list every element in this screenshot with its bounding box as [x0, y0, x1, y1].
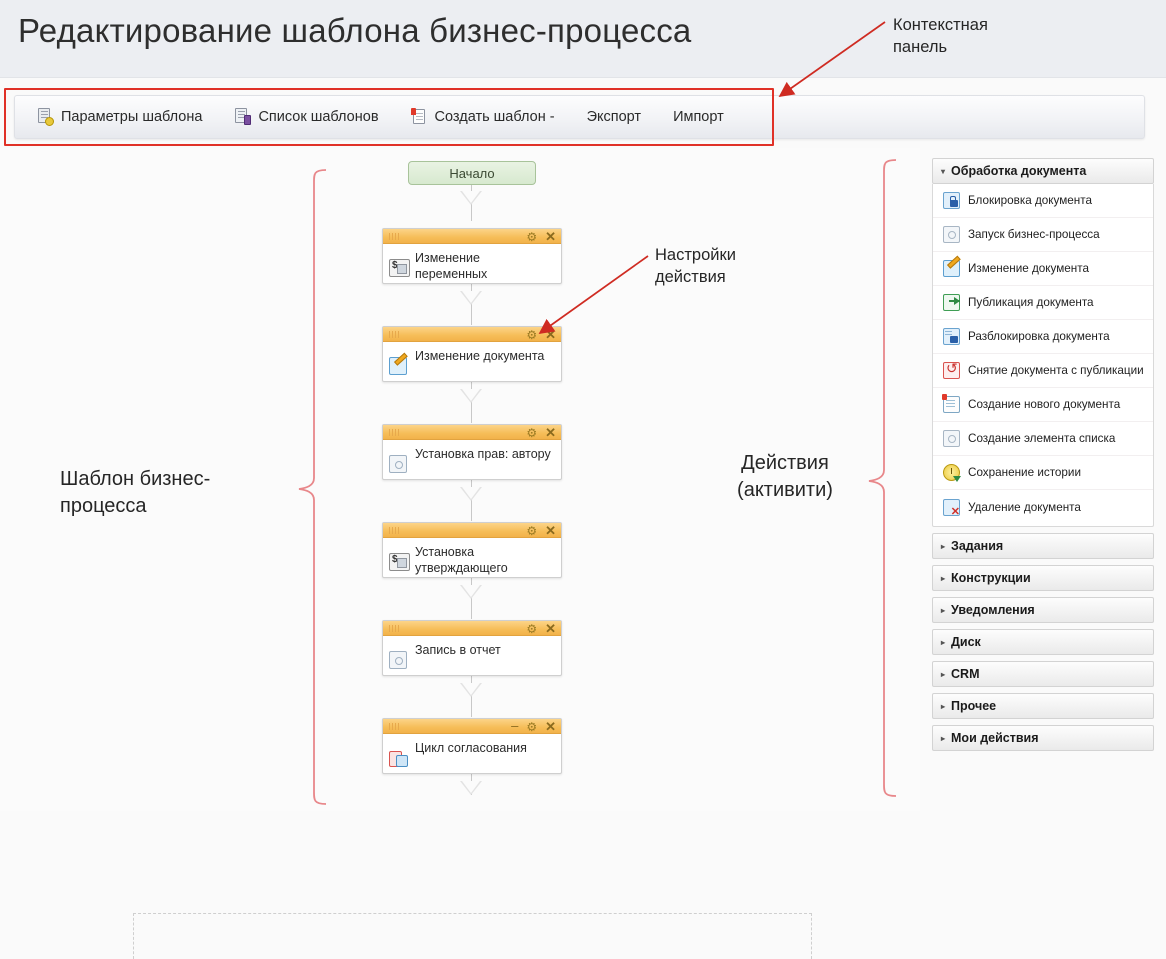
- square-icon: [943, 226, 960, 243]
- flow-node-label: Изменение переменных: [415, 251, 487, 281]
- cycle-icon: [389, 749, 407, 767]
- drag-handle-icon[interactable]: [389, 527, 405, 534]
- sidebar-group-header[interactable]: ▸ Уведомления: [932, 597, 1154, 623]
- activity-label: Публикация документа: [968, 296, 1094, 309]
- close-icon[interactable]: ✕: [545, 426, 556, 439]
- sidebar-group-label: CRM: [951, 667, 979, 681]
- activity-item-publish-document[interactable]: Публикация документа: [933, 286, 1153, 320]
- drag-handle-icon[interactable]: [389, 331, 405, 338]
- sidebar-group-header[interactable]: ▸ Задания: [932, 533, 1154, 559]
- chevron-right-icon: ▸: [941, 542, 945, 551]
- activity-label: Разблокировка документа: [968, 330, 1110, 343]
- sidebar-group-label: Обработка документа: [951, 164, 1086, 178]
- sidebar-group-header[interactable]: ▸ Прочее: [932, 693, 1154, 719]
- chevron-right-icon: ▸: [941, 734, 945, 743]
- sidebar-group-header[interactable]: ▾ Обработка документа: [932, 158, 1154, 184]
- square-icon: [943, 430, 960, 447]
- activity-item-unlock-document[interactable]: Разблокировка документа: [933, 320, 1153, 354]
- close-icon[interactable]: ✕: [545, 622, 556, 635]
- drag-handle-icon[interactable]: [389, 233, 405, 240]
- close-icon[interactable]: ✕: [545, 230, 556, 243]
- sidebar-group-other[interactable]: ▸ Прочее: [932, 693, 1154, 719]
- page-title: Редактирование шаблона бизнес-процесса: [18, 12, 691, 50]
- close-icon[interactable]: ✕: [545, 328, 556, 341]
- edit-document-icon: [943, 260, 960, 277]
- flow-node-header[interactable]: ⚙ ✕: [383, 229, 561, 244]
- flow-node-body: Установка утверждающего: [383, 538, 561, 577]
- flow-node[interactable]: ⚙ ✕ Изменение переменных: [382, 228, 562, 284]
- new-document-icon: [943, 396, 960, 413]
- sidebar-group-constructs[interactable]: ▸ Конструкции: [932, 565, 1154, 591]
- gear-icon[interactable]: ⚙: [526, 525, 537, 537]
- flow-node-header[interactable]: ⚙ ✕: [383, 425, 561, 440]
- connector-arrow: [460, 291, 482, 305]
- flow-node-body: Запись в отчет: [383, 636, 561, 675]
- flow-node[interactable]: ⚙ ✕ Установка прав: автору: [382, 424, 562, 480]
- sidebar-group-label: Уведомления: [951, 603, 1035, 617]
- chevron-down-icon: ▾: [941, 167, 945, 176]
- annotation-action-settings: Настройкидействия: [655, 244, 736, 289]
- annotation-context-panel: Контекстнаяпанель: [893, 14, 988, 59]
- activity-label: Изменение документа: [968, 262, 1089, 275]
- flow-node-header[interactable]: ⚙ ✕: [383, 621, 561, 636]
- context-toolbar[interactable]: Параметры шаблона Список шаблонов Создат…: [14, 95, 1145, 139]
- flow-node-label: Запись в отчет: [415, 643, 501, 657]
- document-new-icon: [411, 108, 428, 126]
- close-icon[interactable]: ✕: [545, 720, 556, 733]
- activity-label: Запуск бизнес-процесса: [968, 228, 1100, 241]
- connector-arrow: [460, 191, 482, 205]
- edit-document-icon: [389, 357, 407, 375]
- flow-node-label: Изменение документа: [415, 349, 544, 363]
- publish-document-icon: [943, 294, 960, 311]
- variables-icon: [389, 259, 410, 277]
- sidebar-group-document-processing[interactable]: ▾ Обработка документа Блокировка докумен…: [932, 158, 1154, 527]
- drag-handle-icon[interactable]: [389, 625, 405, 632]
- activity-item-new-document[interactable]: Создание нового документа: [933, 388, 1153, 422]
- minimize-icon[interactable]: –: [511, 719, 518, 732]
- sidebar-group-label: Задания: [951, 539, 1003, 553]
- square-icon: [389, 651, 407, 669]
- square-icon: [389, 455, 407, 473]
- variables-icon: [389, 553, 410, 571]
- sidebar-group-body: Блокировка документа Запуск бизнес-проце…: [932, 184, 1154, 527]
- flow-node-header[interactable]: ⚙ ✕: [383, 523, 561, 538]
- toolbar-item-template-list[interactable]: Список шаблонов: [218, 96, 394, 138]
- activity-item-delete-document[interactable]: Удаление документа: [933, 490, 1153, 524]
- sidebar-group-header[interactable]: ▸ Конструкции: [932, 565, 1154, 591]
- chevron-right-icon: ▸: [941, 670, 945, 679]
- toolbar-item-create-template[interactable]: Создать шаблон -: [395, 96, 571, 138]
- unpublish-document-icon: [943, 362, 960, 379]
- sidebar-group-my-actions[interactable]: ▸ Мои действия: [932, 725, 1154, 751]
- sidebar-group-label: Прочее: [951, 699, 996, 713]
- document-list-icon: [234, 108, 251, 126]
- chevron-right-icon: ▸: [941, 638, 945, 647]
- toolbar-item-export[interactable]: Экспорт: [571, 96, 657, 138]
- toolbar-item-label: Создать шаблон -: [435, 109, 555, 125]
- toolbar-item-import[interactable]: Импорт: [657, 96, 740, 138]
- activity-label: Создание нового документа: [968, 398, 1120, 411]
- sidebar-group-label: Диск: [951, 635, 981, 649]
- flow-node-body: Установка прав: автору: [383, 440, 561, 479]
- gear-icon[interactable]: ⚙: [526, 623, 537, 635]
- activity-label: Удаление документа: [968, 501, 1081, 514]
- flow-node-header[interactable]: – ⚙ ✕: [383, 719, 561, 734]
- toolbar-item-label: Экспорт: [587, 109, 641, 125]
- activity-item-start-process[interactable]: Запуск бизнес-процесса: [933, 218, 1153, 252]
- chevron-right-icon: ▸: [941, 606, 945, 615]
- connector-arrow: [460, 781, 482, 795]
- flow-node-start[interactable]: Начало: [408, 161, 536, 185]
- connector-arrow: [460, 487, 482, 501]
- clock-save-icon: [943, 464, 960, 481]
- sidebar-group-label: Конструкции: [951, 571, 1031, 585]
- flow-node[interactable]: ⚙ ✕ Изменение документа: [382, 326, 562, 382]
- flow-node-label: Цикл согласования: [415, 741, 527, 755]
- annotation-process-template: Шаблон бизнес-процесса: [60, 466, 290, 520]
- toolbar-item-template-params[interactable]: Параметры шаблона: [15, 96, 218, 138]
- activity-item-lock-document[interactable]: Блокировка документа: [933, 184, 1153, 218]
- lock-document-icon: [943, 192, 960, 209]
- gear-icon[interactable]: ⚙: [526, 329, 537, 341]
- activity-item-new-list-element[interactable]: Создание элемента списка: [933, 422, 1153, 456]
- delete-document-icon: [943, 499, 960, 516]
- flow-node-header[interactable]: ⚙ ✕: [383, 327, 561, 342]
- chevron-right-icon: ▸: [941, 702, 945, 711]
- flow-node-body: Изменение документа: [383, 342, 561, 381]
- toolbar-item-label: Параметры шаблона: [61, 109, 202, 125]
- drag-handle-icon[interactable]: [389, 723, 405, 730]
- connector-arrow: [460, 683, 482, 697]
- flow-node-start-label: Начало: [449, 166, 494, 181]
- flow-node-label: Установка прав: автору: [415, 447, 551, 461]
- toolbar-item-label: Импорт: [673, 109, 724, 125]
- activity-item-unpublish-document[interactable]: Снятие документа с публикации: [933, 354, 1153, 388]
- activities-sidebar[interactable]: ▾ Обработка документа Блокировка докумен…: [932, 158, 1154, 757]
- flow-node-body: Изменение переменных: [383, 244, 561, 283]
- sidebar-group-header[interactable]: ▸ Диск: [932, 629, 1154, 655]
- flow-node[interactable]: ⚙ ✕ Запись в отчет: [382, 620, 562, 676]
- chevron-right-icon: ▸: [941, 574, 945, 583]
- gear-icon[interactable]: ⚙: [526, 231, 537, 243]
- activity-label: Сохранение истории: [968, 466, 1081, 479]
- activity-label: Снятие документа с публикации: [968, 364, 1144, 377]
- sidebar-group-header[interactable]: ▸ CRM: [932, 661, 1154, 687]
- sidebar-group-label: Мои действия: [951, 731, 1039, 745]
- toolbar-item-label: Список шаблонов: [258, 109, 378, 125]
- sidebar-group-header[interactable]: ▸ Мои действия: [932, 725, 1154, 751]
- sidebar-group-notifications[interactable]: ▸ Уведомления: [932, 597, 1154, 623]
- flow-node[interactable]: – ⚙ ✕ Цикл согласования: [382, 718, 562, 774]
- document-gear-icon: [37, 108, 54, 126]
- gear-icon[interactable]: ⚙: [526, 721, 537, 733]
- activity-label: Создание элемента списка: [968, 432, 1115, 445]
- sidebar-group-disk[interactable]: ▸ Диск: [932, 629, 1154, 655]
- annotation-activities: Действия(активити): [700, 450, 870, 504]
- drag-handle-icon[interactable]: [389, 429, 405, 436]
- activity-item-edit-document[interactable]: Изменение документа: [933, 252, 1153, 286]
- drop-zone: [133, 913, 812, 959]
- sidebar-group-crm[interactable]: ▸ CRM: [932, 661, 1154, 687]
- gear-icon[interactable]: ⚙: [526, 427, 537, 439]
- close-icon[interactable]: ✕: [545, 524, 556, 537]
- flow-node-label: Установка утверждающего: [415, 545, 508, 575]
- unlock-document-icon: [943, 328, 960, 345]
- flow-node[interactable]: ⚙ ✕ Установка утверждающего: [382, 522, 562, 578]
- flow-node-body: Цикл согласования: [383, 734, 561, 773]
- connector-arrow: [460, 585, 482, 599]
- activity-item-save-history[interactable]: Сохранение истории: [933, 456, 1153, 490]
- sidebar-group-tasks[interactable]: ▸ Задания: [932, 533, 1154, 559]
- activity-label: Блокировка документа: [968, 194, 1092, 207]
- connector-arrow: [460, 389, 482, 403]
